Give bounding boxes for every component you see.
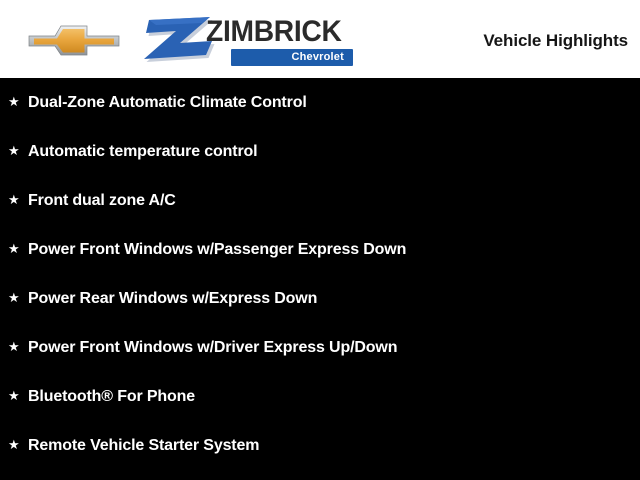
star-bullet-icon: ★ bbox=[8, 439, 28, 452]
feature-list-item: ★Power Front Windows w/Passenger Express… bbox=[0, 225, 640, 274]
highlights-panel: ★Dual-Zone Automatic Climate Control★Aut… bbox=[0, 78, 640, 480]
feature-label: Front dual zone A/C bbox=[28, 191, 176, 210]
star-bullet-icon: ★ bbox=[8, 145, 28, 158]
feature-label: Power Front Windows w/Driver Express Up/… bbox=[28, 338, 397, 357]
chevrolet-bowtie-icon bbox=[28, 21, 120, 59]
feature-list-item: ★Bluetooth® For Phone bbox=[0, 372, 640, 421]
page-title: Vehicle Highlights bbox=[483, 31, 628, 51]
chevrolet-banner: Chevrolet bbox=[231, 49, 353, 66]
star-bullet-icon: ★ bbox=[8, 194, 28, 207]
star-bullet-icon: ★ bbox=[8, 390, 28, 403]
feature-list-item: ★Front dual zone A/C bbox=[0, 176, 640, 225]
feature-label: Power Rear Windows w/Express Down bbox=[28, 289, 317, 308]
feature-list-item: ★Remote Vehicle Starter System bbox=[0, 421, 640, 470]
feature-label: Dual-Zone Automatic Climate Control bbox=[28, 93, 307, 112]
vehicle-highlights-page: ZIMBRICK Chevrolet Vehicle Highlights ★D… bbox=[0, 0, 640, 480]
zimbrick-wordmark: ZIMBRICK bbox=[206, 17, 342, 47]
feature-label: Power Front Windows w/Passenger Express … bbox=[28, 240, 406, 259]
zimbrick-dealer-logo: ZIMBRICK Chevrolet bbox=[140, 8, 355, 70]
star-bullet-icon: ★ bbox=[8, 243, 28, 256]
feature-list-item: ★Power Rear Windows w/Express Down bbox=[0, 274, 640, 323]
feature-list-item: ★Power Front Windows w/Driver Express Up… bbox=[0, 323, 640, 372]
feature-label: Automatic temperature control bbox=[28, 142, 257, 161]
header-bar: ZIMBRICK Chevrolet Vehicle Highlights bbox=[0, 0, 640, 78]
feature-list: ★Dual-Zone Automatic Climate Control★Aut… bbox=[0, 78, 640, 470]
star-bullet-icon: ★ bbox=[8, 341, 28, 354]
feature-label: Remote Vehicle Starter System bbox=[28, 436, 259, 455]
chevrolet-banner-label: Chevrolet bbox=[291, 51, 344, 64]
feature-list-item: ★Dual-Zone Automatic Climate Control bbox=[0, 78, 640, 127]
feature-label: Bluetooth® For Phone bbox=[28, 387, 195, 406]
star-bullet-icon: ★ bbox=[8, 292, 28, 305]
feature-list-item: ★Automatic temperature control bbox=[0, 127, 640, 176]
star-bullet-icon: ★ bbox=[8, 96, 28, 109]
